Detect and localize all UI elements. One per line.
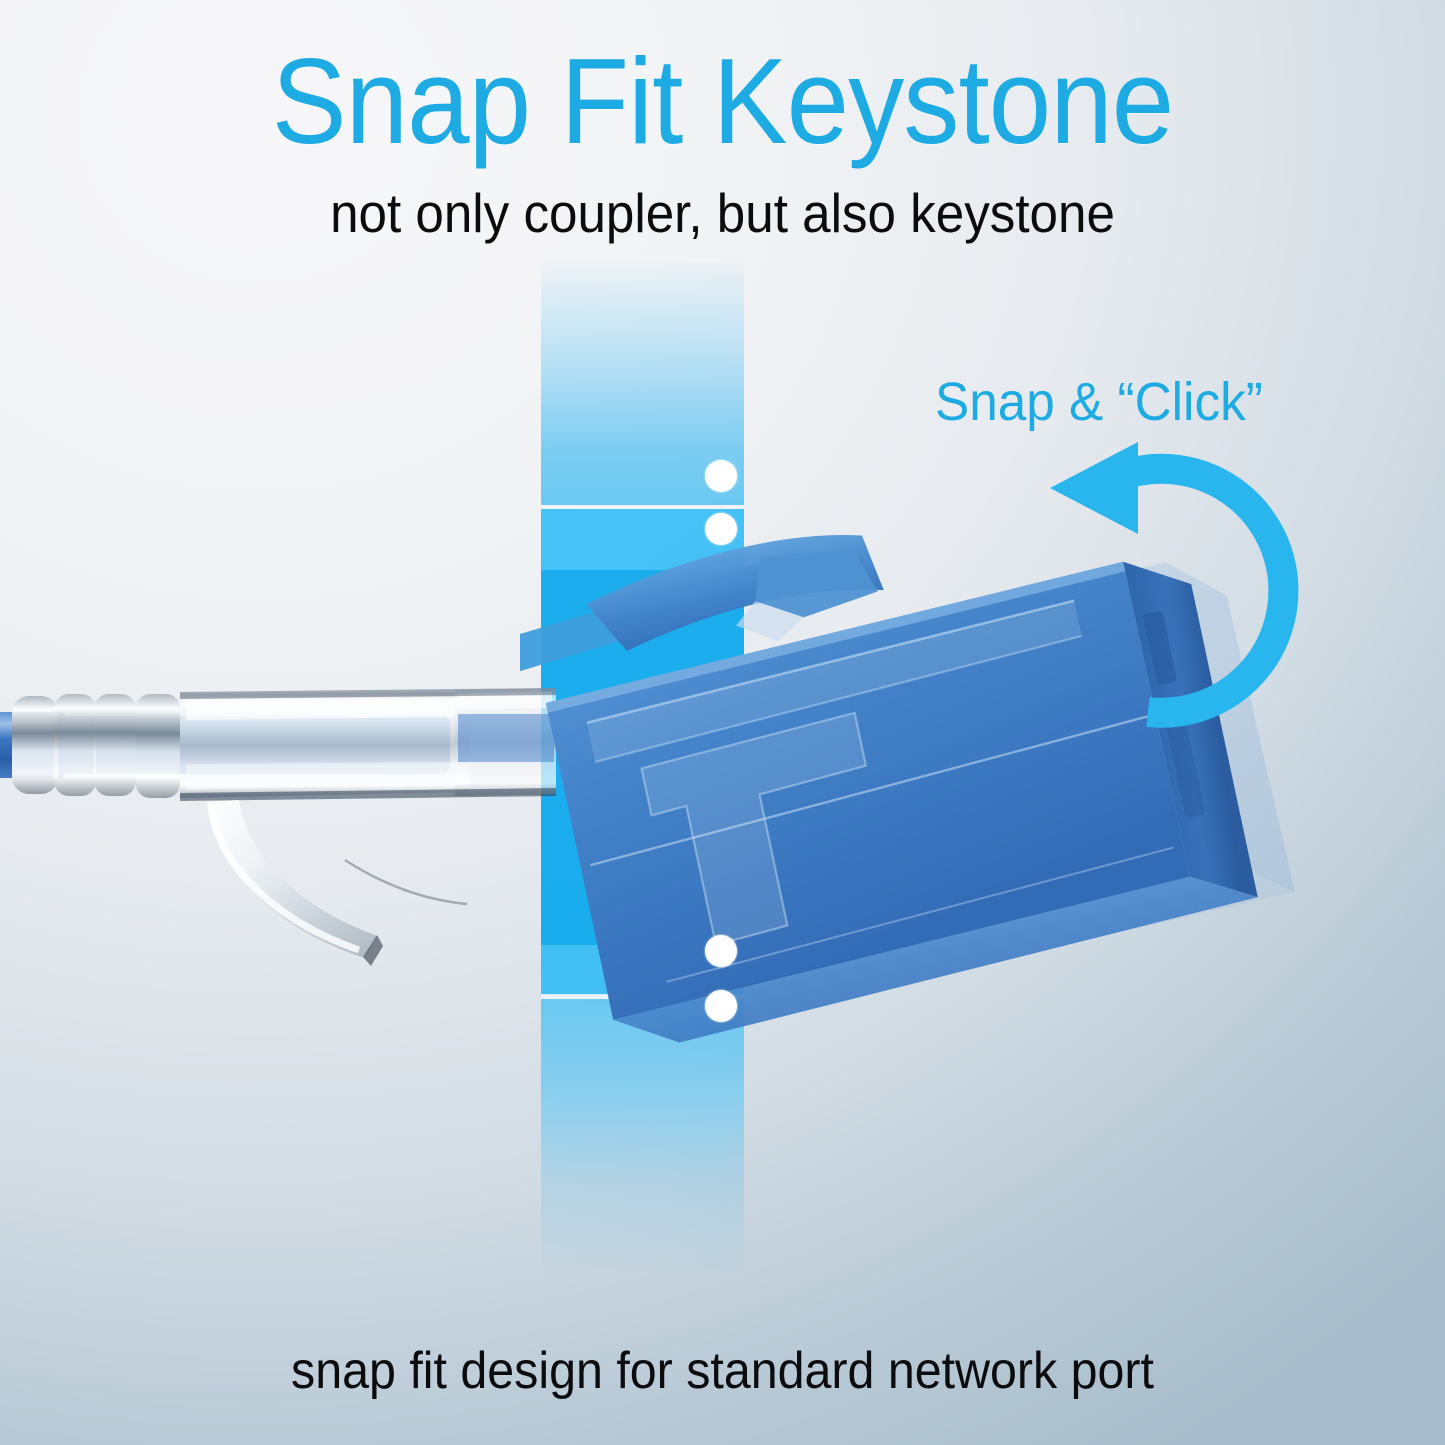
page-title: Snap Fit Keystone	[58, 40, 1387, 162]
page-subtitle: not only coupler, but also keystone	[51, 186, 1395, 241]
page-caption: snap fit design for standard network por…	[51, 1345, 1395, 1397]
product-image-canvas: Snap Fit Keystone not only coupler, but …	[0, 0, 1445, 1445]
snap-dot-top-inner	[705, 513, 737, 545]
snap-rotation-arrow-icon	[1040, 430, 1340, 730]
snap-dot-top-outer	[705, 460, 737, 492]
snap-dot-bottom-outer	[705, 990, 737, 1022]
cable-latch	[195, 800, 470, 990]
snap-dot-bottom-inner	[705, 935, 737, 967]
snap-click-label: Snap & “Click”	[935, 375, 1263, 429]
